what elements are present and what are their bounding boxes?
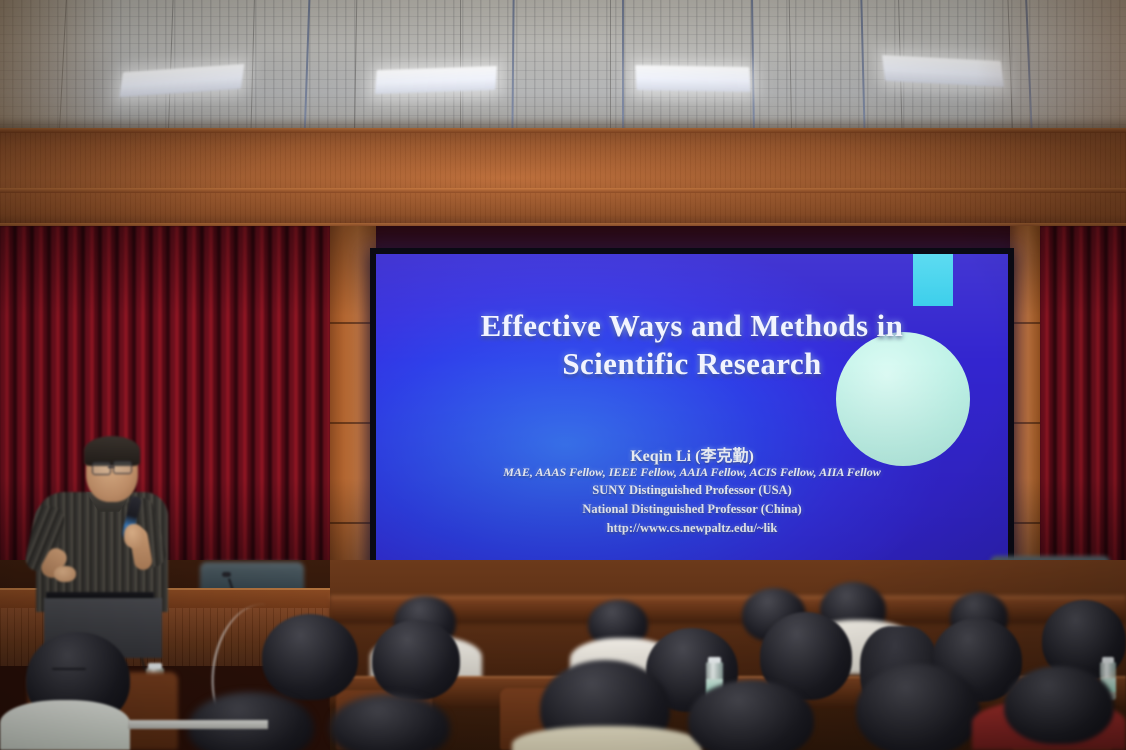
eyeglasses-right-lens [113, 461, 132, 474]
ceiling-shadow-right [976, 0, 1126, 132]
foreground-attendee-head [688, 680, 814, 750]
speaker-right-hand [124, 524, 144, 548]
audience-head [372, 620, 460, 700]
ceiling [0, 0, 1126, 132]
wall-wood-header [0, 128, 1126, 228]
speaker-left-hand [54, 566, 76, 582]
foreground-attendee-shoulders [0, 700, 130, 750]
eyeglasses-left-lens [92, 462, 111, 475]
microphone-head [222, 572, 231, 577]
projection-screen: Effective Ways and Methods in Scientific… [370, 248, 1014, 568]
ceiling-shadow-left [0, 0, 120, 132]
presentation-slide: Effective Ways and Methods in Scientific… [376, 254, 1008, 562]
ceiling-light-panel [635, 65, 750, 92]
desk-edge-highlight [128, 720, 268, 729]
ceiling-rail [622, 0, 624, 132]
foreground-attendee-head [856, 664, 980, 750]
ceiling-light-panel [375, 66, 497, 94]
header-vignette [0, 128, 1126, 228]
eyeglasses-bridge [108, 466, 114, 468]
foreground-attendee-head [1004, 666, 1114, 744]
foreground-attendee-glasses [52, 668, 86, 670]
slide-screen-sheen [376, 254, 1008, 562]
lecture-hall-photo: Effective Ways and Methods in Scientific… [0, 0, 1126, 750]
audience-head [262, 614, 358, 700]
